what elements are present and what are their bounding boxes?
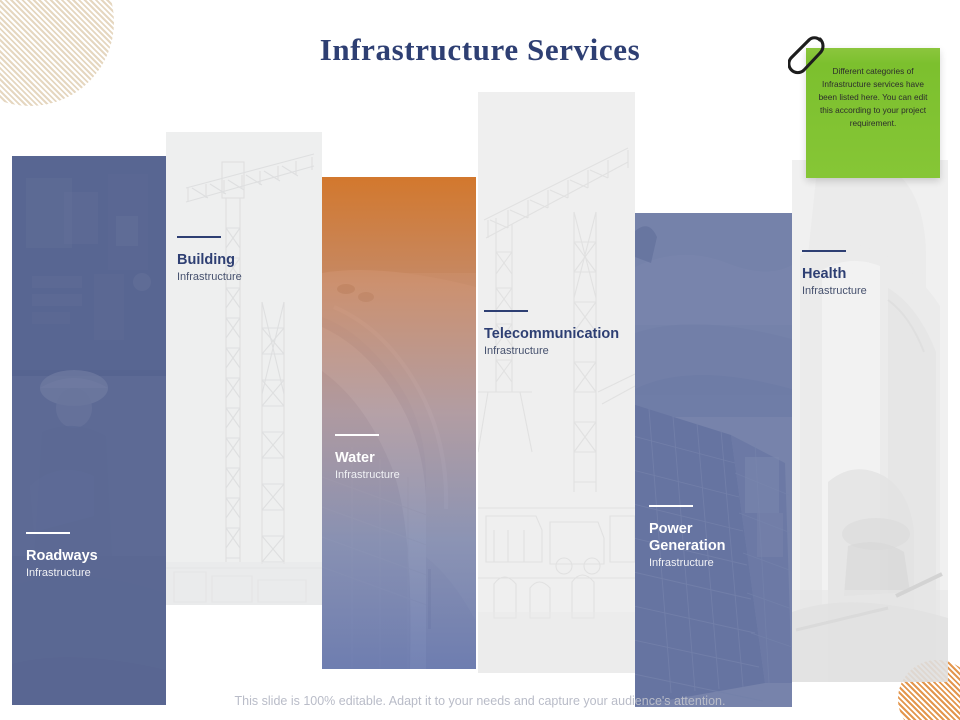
- building-subtitle: Infrastructure: [177, 270, 242, 285]
- water-color-tint: [322, 177, 476, 669]
- slide-canvas: Roadways Infrastructure: [0, 0, 960, 720]
- telecom-crane-photo: [478, 92, 635, 673]
- telecommunication-accent-rule: [484, 310, 528, 312]
- doctor-photo: [792, 160, 948, 682]
- roadways-color-tint: [12, 156, 166, 705]
- roadways-label-group: Roadways Infrastructure: [26, 532, 98, 581]
- water-label-group: Water Infrastructure: [335, 434, 400, 483]
- column-health[interactable]: Health Infrastructure: [792, 160, 948, 682]
- column-roadways[interactable]: Roadways Infrastructure: [12, 156, 166, 705]
- column-water[interactable]: Water Infrastructure: [322, 177, 476, 669]
- building-accent-rule: [177, 236, 221, 238]
- telecommunication-subtitle: Infrastructure: [484, 344, 619, 359]
- health-title: Health: [802, 266, 867, 283]
- column-telecommunication[interactable]: Telecommunication Infrastructure: [478, 92, 635, 673]
- roadways-title: Roadways: [26, 548, 98, 565]
- power-generation-label-group: PowerGeneration Infrastructure: [649, 505, 726, 571]
- building-label-group: Building Infrastructure: [177, 236, 242, 285]
- power-generation-title: PowerGeneration: [649, 521, 726, 555]
- health-label-group: Health Infrastructure: [802, 250, 867, 299]
- column-power-generation[interactable]: PowerGeneration Infrastructure: [635, 213, 792, 707]
- water-accent-rule: [335, 434, 379, 436]
- health-subtitle: Infrastructure: [802, 284, 867, 299]
- column-building[interactable]: Building Infrastructure: [166, 132, 322, 605]
- water-subtitle: Infrastructure: [335, 468, 400, 483]
- power-generation-accent-rule: [649, 505, 693, 507]
- telecommunication-label-group: Telecommunication Infrastructure: [484, 310, 619, 359]
- telecommunication-title: Telecommunication: [484, 326, 619, 343]
- editable-caption: This slide is 100% editable. Adapt it to…: [0, 694, 960, 708]
- power-generation-subtitle: Infrastructure: [649, 556, 726, 571]
- power-generation-color-tint: [635, 213, 792, 707]
- roadways-subtitle: Infrastructure: [26, 566, 98, 581]
- roadways-accent-rule: [26, 532, 70, 534]
- sticky-note[interactable]: Different categories of Infrastructure s…: [806, 48, 940, 178]
- construction-crane-photo: [166, 132, 322, 605]
- building-title: Building: [177, 252, 242, 269]
- water-title: Water: [335, 450, 400, 467]
- paperclip-icon: [788, 32, 832, 84]
- health-accent-rule: [802, 250, 846, 252]
